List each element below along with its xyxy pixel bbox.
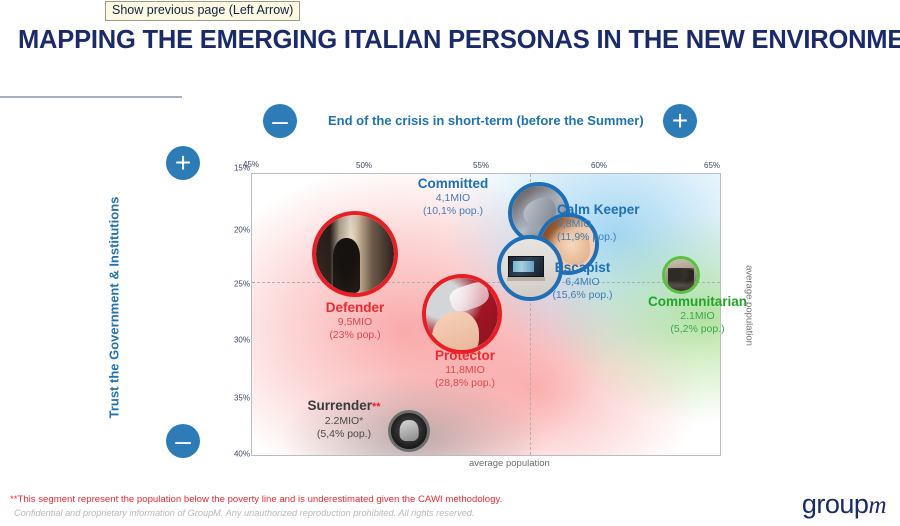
plus-indicator-left-top: + [166, 146, 200, 180]
persona-population: (23% pop.) [272, 329, 438, 342]
persona-label-defender: Defender 9,5MIO (23% pop.) [272, 300, 438, 341]
persona-label-committed: Committed 4,1MIO (10,1% pop.) [368, 176, 538, 217]
sanitiser-bottle-shape [448, 280, 493, 315]
footnote-marker: ** [372, 401, 381, 413]
persona-label-protector: Protector 11,8MIO (28,8% pop.) [382, 348, 548, 389]
logo-mark: m [868, 492, 886, 519]
persona-value: 11,8MIO [382, 364, 548, 377]
persona-name: Surrender** [278, 398, 410, 415]
persona-label-calm-keeper: Calm Keeper 4,8MIO (11,9% pop.) [557, 202, 742, 243]
slide-canvas: Show previous page (Left Arrow) MAPPING … [0, 0, 900, 526]
y-tick-2: 25% [228, 280, 250, 289]
bubble-defender[interactable] [312, 211, 398, 297]
defender-photo [316, 215, 394, 293]
y-tick-5: 40% [228, 450, 250, 459]
persona-value: 4,1MIO [368, 192, 538, 205]
silhouette-figure [333, 238, 360, 293]
persona-value: 2.2MIO* [278, 415, 410, 428]
minus-icon: – [166, 424, 200, 458]
footnote: **This segment represent the population … [10, 494, 502, 505]
x-tick-4: 65% [704, 161, 720, 170]
x-tick-3: 60% [591, 161, 607, 170]
persona-name: Escapist [500, 260, 665, 276]
page-title: MAPPING THE EMERGING ITALIAN PERSONAS IN… [18, 26, 900, 55]
persona-population: (28,8% pop.) [382, 377, 548, 390]
persona-population: (10,1% pop.) [368, 205, 538, 218]
footnote-text: This segment represent the population be… [17, 494, 502, 505]
x-axis-title: End of the crisis in short-term (before … [328, 113, 644, 128]
plus-icon: + [663, 104, 697, 138]
persona-population: (5,4% pop.) [278, 428, 410, 441]
y-axis-title: Trust the Government & Institutions [107, 188, 122, 428]
groupm-logo: groupm [802, 489, 886, 520]
minus-icon: – [263, 104, 297, 138]
y-tick-0: 15% [228, 164, 250, 173]
persona-name: Communitarian [605, 294, 790, 310]
plus-indicator-top-right: + [663, 104, 697, 138]
plus-icon: + [166, 146, 200, 180]
persona-population: (5,2% pop.) [605, 323, 790, 336]
crowd-shape [668, 268, 694, 291]
y-tick-1: 20% [228, 226, 250, 235]
persona-value: 4,8MIO [557, 218, 742, 231]
persona-name: Protector [382, 348, 548, 364]
title-divider [0, 96, 182, 98]
x-tick-1: 50% [356, 161, 372, 170]
persona-name-text: Surrender [307, 398, 372, 413]
persona-value: 9,5MIO [272, 316, 438, 329]
persona-name: Committed [368, 176, 538, 192]
y-tick-4: 35% [228, 394, 250, 403]
persona-label-communitarian: Communitarian 2.1MIO (5,2% pop.) [605, 294, 790, 335]
confidentiality-notice: Confidential and proprietary information… [14, 508, 474, 518]
communitarian-photo [665, 259, 697, 291]
logo-text: group [802, 489, 869, 519]
y-tick-3: 30% [228, 336, 250, 345]
minus-indicator-left-bottom: – [166, 424, 200, 458]
persona-name: Calm Keeper [557, 202, 742, 218]
previous-page-tooltip: Show previous page (Left Arrow) [105, 1, 300, 21]
x-average-population-label: average population [469, 458, 550, 469]
persona-name: Defender [272, 300, 438, 316]
y-average-population-label: average population [744, 246, 755, 366]
minus-indicator-top-left: – [263, 104, 297, 138]
persona-population: (11,9% pop.) [557, 231, 742, 244]
persona-label-surrender: Surrender** 2.2MIO* (5,4% pop.) [278, 398, 410, 440]
persona-value: 6,4MIO [500, 276, 665, 289]
x-tick-2: 55% [473, 161, 489, 170]
bubble-communitarian[interactable] [662, 256, 700, 294]
persona-value: 2.1MIO [605, 310, 790, 323]
